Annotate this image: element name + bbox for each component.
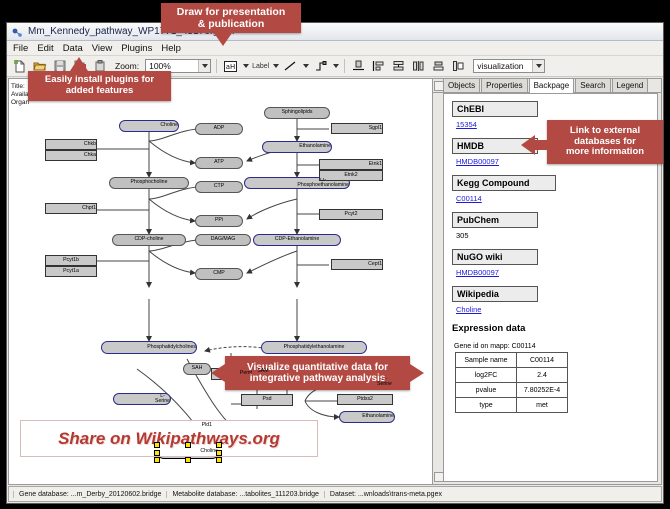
node-dagmag[interactable]: DAG/MAG — [195, 234, 251, 246]
expression-table: Sample name C00114 log2FC 2.4 pvalue 7.8… — [455, 352, 568, 413]
node-ethanolamine-bottom[interactable]: Ethanolamine — [339, 411, 395, 423]
callout-share-text: Share on Wikipathways.org — [58, 429, 280, 449]
node-label: PPi — [215, 218, 223, 223]
gene-label: Pcyt2 — [345, 212, 358, 217]
callout-visualize-arrow-right-icon — [410, 364, 424, 382]
zoom-value: 100% — [149, 61, 171, 71]
gene-label: Chpt1 — [82, 206, 96, 211]
gene-label: Pcyt1b — [63, 258, 79, 263]
toolbar-separator-2 — [344, 59, 345, 73]
status-gene-database: Gene database: ...m_Derby_20120602.bridg… — [13, 491, 166, 498]
resize-handle-ne[interactable] — [216, 442, 222, 448]
group-icon[interactable] — [450, 58, 467, 75]
node-label: SAH — [192, 366, 203, 371]
node-label: Ethanolamine — [362, 414, 394, 419]
expression-gene-id: Gene id on mapp: C00114 — [454, 343, 657, 350]
node-label: L-Serine — [155, 394, 170, 404]
node-ctp[interactable]: CTP — [195, 181, 243, 193]
callout-databases-arrow-stem — [534, 140, 549, 150]
tab-legend[interactable]: Legend — [612, 78, 649, 92]
node-label: Sphingolipids — [282, 110, 313, 115]
resize-handle-e[interactable] — [216, 450, 222, 456]
visualization-chevron-down-icon[interactable] — [532, 60, 544, 72]
new-file-icon[interactable] — [11, 58, 28, 75]
align-left-icon[interactable] — [370, 58, 387, 75]
node-phosphatidylcholines[interactable]: Phosphatidylcholines — [101, 341, 197, 354]
callout-publication: Draw for presentation & publication — [161, 3, 301, 33]
db-value-pubchem: 305 — [456, 231, 657, 240]
resize-handle-n[interactable] — [185, 442, 191, 448]
gene-label: Pld1 — [202, 423, 212, 428]
connector-tool-icon[interactable] — [312, 58, 329, 75]
db-link-wikipedia[interactable]: Choline — [456, 305, 657, 314]
distribute-vertical-icon[interactable] — [390, 58, 407, 75]
node-sah[interactable]: SAH — [183, 363, 211, 375]
chevron-down-icon[interactable] — [198, 60, 210, 72]
connector-dropdown-icon[interactable] — [332, 59, 339, 73]
gene-label: Etnk2 — [344, 173, 357, 178]
callout-plugins: Easily install plugins for added feature… — [28, 71, 171, 101]
node-phosphocholine[interactable]: Phosphocholine — [109, 177, 189, 189]
node-label: DAG/MAG — [211, 237, 236, 242]
table-row: type met — [456, 398, 568, 413]
node-sphingolipids[interactable]: Sphingolipids — [264, 107, 330, 119]
resize-handle-nw[interactable] — [154, 442, 160, 448]
node-label: CDP-Ethanolamine — [275, 237, 319, 242]
gene-pcyt1a[interactable]: Pcyt1a — [45, 266, 97, 277]
side-splitter-top[interactable] — [434, 81, 444, 91]
screenshot-frame: Mm_Kennedy_pathway_WP1771_45176.gpml Fil… — [0, 0, 670, 509]
node-label: L-Serine — [377, 377, 392, 387]
gene-chpt1[interactable]: Chpt1 — [45, 203, 97, 214]
gene-label: Etnk1 — [369, 162, 382, 167]
callout-databases: Link to external databases for more info… — [547, 120, 663, 164]
gene-label: Chka — [84, 153, 96, 158]
status-metabolite-database: Metabolite database: ...tabolites_111203… — [166, 491, 323, 498]
stack-icon[interactable] — [430, 58, 447, 75]
node-label: Phosphocholine — [131, 180, 168, 185]
node-atp[interactable]: ATP — [195, 157, 243, 169]
gene-pcyt1b[interactable]: Pcyt1b — [45, 255, 97, 266]
db-link-kegg-compound[interactable]: C00114 — [456, 194, 657, 203]
node-cmp[interactable]: CMP — [195, 268, 243, 280]
gene-chkb[interactable]: Chkb — [45, 139, 97, 150]
datanode-icon[interactable]: aH — [222, 58, 239, 75]
node-label: CMP — [213, 271, 225, 276]
expression-data-title: Expression data — [452, 323, 657, 334]
callout-publication-arrow-icon — [214, 33, 232, 46]
resize-handle-s[interactable] — [185, 457, 191, 463]
resize-handle-sw[interactable] — [154, 457, 160, 463]
node-label: CDP-choline — [134, 237, 163, 242]
table-row: log2FC 2.4 — [456, 368, 568, 383]
toolbar-separator — [216, 59, 217, 73]
db-header-pubchem: PubChem — [452, 212, 538, 228]
status-dataset: Dataset: ...wnloads\trans-meta.pgex — [324, 491, 447, 498]
callout-databases-arrow-icon — [521, 135, 535, 155]
node-label: Choline — [160, 123, 178, 128]
menu-view[interactable]: View — [92, 43, 112, 54]
resize-handle-w[interactable] — [154, 450, 160, 456]
table-row: pvalue 7.80252E-4 — [456, 383, 568, 398]
db-header-kegg-compound: Kegg Compound — [452, 175, 556, 191]
gene-label: Pcyt1a — [63, 269, 79, 274]
gene-psd[interactable]: Psd — [241, 394, 293, 406]
gene-label: Ptdss2 — [357, 397, 373, 402]
app-icon — [11, 26, 23, 38]
cell-value: 7.80252E-4 — [517, 383, 568, 398]
status-bar: Gene database: ...m_Derby_20120602.bridg… — [8, 486, 662, 502]
menu-file[interactable]: File — [13, 43, 28, 54]
resize-handle-se[interactable] — [216, 457, 222, 463]
gene-label: Chkb — [84, 142, 96, 147]
node-cdp-ethanolamine[interactable]: CDP-Ethanolamine — [253, 234, 341, 246]
datanode-dropdown-icon[interactable] — [242, 59, 249, 73]
table-row: Sample name C00114 — [456, 353, 568, 368]
cell-key: log2FC — [456, 368, 517, 383]
db-header-nugo-wiki: NuGO wiki — [452, 249, 538, 265]
node-label: ATP — [214, 160, 224, 165]
node-adp[interactable]: ADP — [195, 123, 243, 135]
line-tool-icon[interactable] — [282, 58, 299, 75]
menu-edit[interactable]: Edit — [37, 43, 53, 54]
distribute-horizontal-icon[interactable] — [410, 58, 427, 75]
node-label: Phosphatidylcholines — [147, 345, 196, 350]
menu-bar: File Edit Data View Plugins Help — [7, 41, 663, 56]
node-label: CTP — [214, 184, 224, 189]
menu-data[interactable]: Data — [63, 43, 83, 54]
node-label: ADP — [214, 126, 225, 131]
gene-label: Pemt — [240, 371, 252, 376]
node-cdp-choline[interactable]: CDP-choline — [112, 234, 186, 246]
label-tool-label: Label — [252, 63, 269, 70]
gene-label: Cept1 — [368, 262, 382, 267]
cell-value: C00114 — [517, 353, 568, 368]
zoom-label: Zoom: — [115, 61, 139, 71]
menu-plugins[interactable]: Plugins — [121, 43, 152, 54]
svg-text:aH: aH — [226, 63, 236, 71]
node-label: Ethanolamine — [299, 144, 331, 149]
db-header-chebi: ChEBI — [452, 101, 538, 117]
align-bottom-icon[interactable] — [350, 58, 367, 75]
gene-label: Psd — [263, 397, 272, 402]
node-ppi[interactable]: PPi — [195, 215, 243, 227]
gene-etnk1[interactable]: Etnk1 — [319, 159, 383, 170]
node-label: Phosphatidylethanolamine — [284, 345, 345, 350]
title-bar: Mm_Kennedy_pathway_WP1771_45176.gpml — [7, 23, 663, 41]
gene-cept1[interactable]: Cept1 — [331, 259, 383, 270]
label-dropdown-icon[interactable] — [272, 59, 279, 73]
side-panel-tabs: Objects Properties Backpage Search Legen… — [433, 79, 661, 93]
visualization-combo[interactable]: visualization — [473, 59, 545, 73]
node-o-phosphoethanolamine[interactable]: O-Phosphoethanolamine — [244, 177, 350, 189]
gene-ptdss2[interactable]: Ptdss2 — [337, 394, 393, 405]
cell-key: pvalue — [456, 383, 517, 398]
gene-sgpl1[interactable]: Sgpl1 — [331, 123, 383, 134]
visualization-value: visualization — [477, 61, 523, 71]
gene-pcyt2[interactable]: Pcyt2 — [319, 209, 383, 220]
tab-objects[interactable]: Objects — [443, 78, 480, 92]
line-dropdown-icon[interactable] — [302, 59, 309, 73]
gene-label: Sgpl1 — [369, 126, 382, 131]
cell-key: Sample name — [456, 353, 517, 368]
db-header-wikipedia: Wikipedia — [452, 286, 538, 302]
callout-share: Share on Wikipathways.org — [20, 420, 318, 457]
tab-backpage[interactable]: Backpage — [529, 78, 575, 93]
node-ethanolamine-top[interactable]: Ethanolamine — [262, 141, 332, 153]
node-label: SAM — [257, 369, 268, 374]
node-l-serine-left[interactable]: L-Serine — [113, 393, 171, 405]
gene-chka[interactable]: Chka — [45, 150, 97, 161]
menu-help[interactable]: Help — [161, 43, 181, 54]
cell-key: type — [456, 398, 517, 413]
node-phosphatidylethanolamine[interactable]: Phosphatidylethanolamine — [261, 341, 367, 354]
cell-value: met — [517, 398, 568, 413]
cell-value: 2.4 — [517, 368, 568, 383]
tab-properties[interactable]: Properties — [481, 78, 527, 92]
node-label: O-Phosphoethanolamine — [297, 178, 349, 188]
db-link-nugo-wiki[interactable]: HMDB00097 — [456, 268, 657, 277]
node-choline-top[interactable]: Choline — [119, 120, 179, 132]
callout-plugins-arrow-stem — [75, 64, 86, 74]
callout-visualize-arrow-icon — [211, 364, 225, 382]
tab-search[interactable]: Search — [575, 78, 610, 92]
